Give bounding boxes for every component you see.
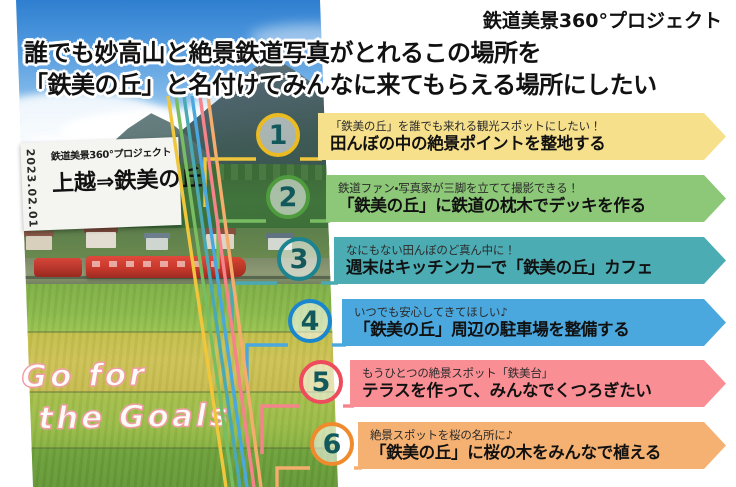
goal-text-6: 「鉄美の丘」に桜の木をみんなで植える <box>370 444 696 462</box>
heading-line-2: 「鉄美の丘」と名付けてみんなに来てもらえる場所にしたい <box>24 70 724 102</box>
goal-text-4: 「鉄美の丘」周辺の駐車場を整備する <box>354 321 696 339</box>
house <box>26 236 52 250</box>
page-title: 誰でも妙高山と絶景鉄道写真がとれるこの場所を 「鉄美の丘」と名付けてみんなに来て… <box>24 38 724 101</box>
signboard-title: 上越⇒鉄美の丘 <box>51 161 174 198</box>
train-rear-car <box>34 258 82 277</box>
goal-number-badge-4[interactable]: 4 <box>288 299 332 343</box>
infographic-canvas: 2023.02.01 鉄道美景360°プロジェクト 上越⇒鉄美の丘 Go for… <box>0 0 736 487</box>
goal-subtitle-3: なにもない田んぼのど真ん中に！ <box>346 244 696 257</box>
train-nose <box>228 257 246 277</box>
red-train <box>86 256 236 278</box>
goal-banner-4[interactable]: いつでも安心してきてほしい♪「鉄美の丘」周辺の駐車場を整備する <box>342 299 726 346</box>
goal-banner-3[interactable]: なにもない田んぼのど真ん中に！週末はキッチンカーで「鉄美の丘」カフェ <box>334 237 726 284</box>
goal-number-badge-2[interactable]: 2 <box>266 175 310 219</box>
house <box>206 234 234 249</box>
goal-number-badge-1[interactable]: 1 <box>256 113 300 157</box>
heading-line-1: 誰でも妙高山と絶景鉄道写真がとれるこの場所を <box>24 38 724 70</box>
signboard-card: 2023.02.01 鉄道美景360°プロジェクト 上越⇒鉄美の丘 <box>20 137 181 231</box>
project-title: 鉄道美景360°プロジェクト <box>483 6 722 33</box>
goal-text-3: 週末はキッチンカーで「鉄美の丘」カフェ <box>346 259 696 277</box>
goal-banner-1[interactable]: 「鉄美の丘」を誰でも来れる観光スポットにしたい！田んぼの中の絶景ポイントを整地す… <box>318 113 726 160</box>
goal-text-1: 田んぼの中の絶景ポイントを整地する <box>330 135 696 153</box>
goal-subtitle-6: 絶景スポットを桜の名所に♪ <box>370 429 696 442</box>
goal-number-badge-3[interactable]: 3 <box>277 237 321 281</box>
goal-banner-2[interactable]: 鉄道ファン・写真家が三脚を立てて撮影できる！「鉄美の丘」に鉄道の枕木でデッキを作… <box>326 175 726 222</box>
house <box>146 238 168 250</box>
field-ridge <box>0 331 400 333</box>
goal-subtitle-4: いつでも安心してきてほしい♪ <box>354 306 696 319</box>
goal-text-5: テラスを作って、みんなでくつろぎたい <box>362 382 696 400</box>
goal-banner-6[interactable]: 絶景スポットを桜の名所に♪「鉄美の丘」に桜の木をみんなで植える <box>358 422 726 469</box>
goal-subtitle-5: もうひとつの絶景スポット「鉄美台」 <box>362 367 696 380</box>
goal-text-2: 「鉄美の丘」に鉄道の枕木でデッキを作る <box>338 197 696 215</box>
signboard-subtitle: 鉄道美景360°プロジェクト <box>51 143 173 163</box>
goal-subtitle-1: 「鉄美の丘」を誰でも来れる観光スポットにしたい！ <box>330 120 696 133</box>
goal-banner-5[interactable]: もうひとつの絶景スポット「鉄美台」テラスを作って、みんなでくつろぎたい <box>350 360 726 407</box>
goal-number-badge-5[interactable]: 5 <box>299 360 343 404</box>
house <box>86 232 116 248</box>
goal-subtitle-2: 鉄道ファン・写真家が三脚を立てて撮影できる！ <box>338 182 696 195</box>
goal-number-badge-6[interactable]: 6 <box>310 422 354 466</box>
